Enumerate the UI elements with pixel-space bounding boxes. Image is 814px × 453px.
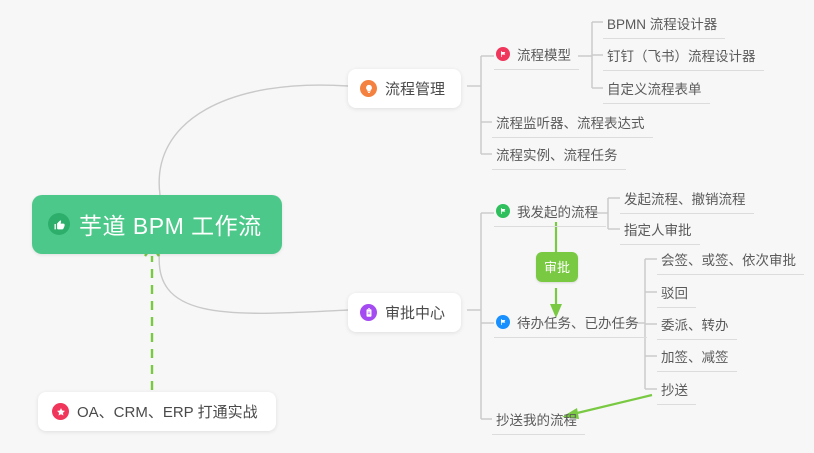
root-node[interactable]: 芋道 BPM 工作流 (32, 195, 282, 254)
node-add-remove-sign[interactable]: 加签、减签 (657, 343, 737, 372)
node-label: 抄送我的流程 (496, 409, 577, 429)
node-my-initiated-processes[interactable]: 我发起的流程 (494, 198, 606, 227)
node-reject[interactable]: 驳回 (657, 279, 696, 308)
mindmap-canvas: 芋道 BPM 工作流 流程管理 流程模型 BPMN 流程设计器 钉钉（飞书）流程… (0, 0, 814, 453)
flag-icon (496, 315, 510, 329)
link-root-to-process-mgmt (159, 85, 348, 195)
node-label: 我发起的流程 (517, 201, 598, 221)
node-label: 驳回 (661, 282, 688, 302)
node-assignee-approval[interactable]: 指定人审批 (620, 216, 700, 245)
node-label: 抄送 (661, 379, 688, 399)
link-root-to-approval-center (159, 248, 348, 313)
approval-pill[interactable]: 审批 (536, 252, 578, 282)
node-start-cancel-process[interactable]: 发起流程、撤销流程 (620, 185, 754, 214)
node-bpmn-designer[interactable]: BPMN 流程设计器 (603, 10, 725, 39)
thumbs-up-icon (48, 213, 70, 235)
node-multi-sign[interactable]: 会签、或签、依次审批 (657, 246, 804, 275)
root-label: 芋道 BPM 工作流 (79, 207, 262, 241)
branch-label: 流程管理 (385, 78, 445, 99)
node-label: 钉钉（飞书）流程设计器 (607, 45, 756, 65)
node-cc[interactable]: 抄送 (657, 376, 696, 405)
flag-icon (496, 204, 510, 218)
node-instance-task[interactable]: 流程实例、流程任务 (492, 141, 626, 170)
lightbulb-icon (360, 80, 377, 97)
node-label: 流程实例、流程任务 (496, 144, 618, 164)
node-process-model[interactable]: 流程模型 (494, 41, 579, 70)
node-label: 发起流程、撤销流程 (624, 188, 746, 208)
node-label: 自定义流程表单 (607, 78, 702, 98)
branch-label: 审批中心 (385, 302, 445, 323)
node-label: BPMN 流程设计器 (607, 13, 717, 33)
branch-process-management[interactable]: 流程管理 (348, 69, 461, 108)
node-label: 流程监听器、流程表达式 (496, 112, 645, 132)
floating-node-integration[interactable]: OA、CRM、ERP 打通实战 (38, 392, 276, 431)
clipboard-icon (360, 304, 377, 321)
node-delegate-transfer[interactable]: 委派、转办 (657, 311, 737, 340)
node-custom-form[interactable]: 自定义流程表单 (603, 75, 710, 104)
node-label: 加签、减签 (661, 346, 729, 366)
node-cc-my-processes[interactable]: 抄送我的流程 (492, 406, 585, 435)
node-label: 指定人审批 (624, 219, 692, 239)
flag-icon (496, 47, 510, 61)
branch-approval-center[interactable]: 审批中心 (348, 293, 461, 332)
node-label: 委派、转办 (661, 314, 729, 334)
node-label: 流程模型 (517, 44, 571, 64)
node-label: 会签、或签、依次审批 (661, 249, 796, 269)
node-dingtalk-designer[interactable]: 钉钉（飞书）流程设计器 (603, 42, 764, 71)
node-listener-expression[interactable]: 流程监听器、流程表达式 (492, 109, 653, 138)
star-icon (52, 403, 69, 420)
node-label: 待办任务、已办任务 (517, 312, 639, 332)
approval-pill-label: 审批 (544, 257, 570, 276)
node-todo-done-tasks[interactable]: 待办任务、已办任务 (494, 309, 647, 338)
floating-node-label: OA、CRM、ERP 打通实战 (77, 401, 258, 422)
